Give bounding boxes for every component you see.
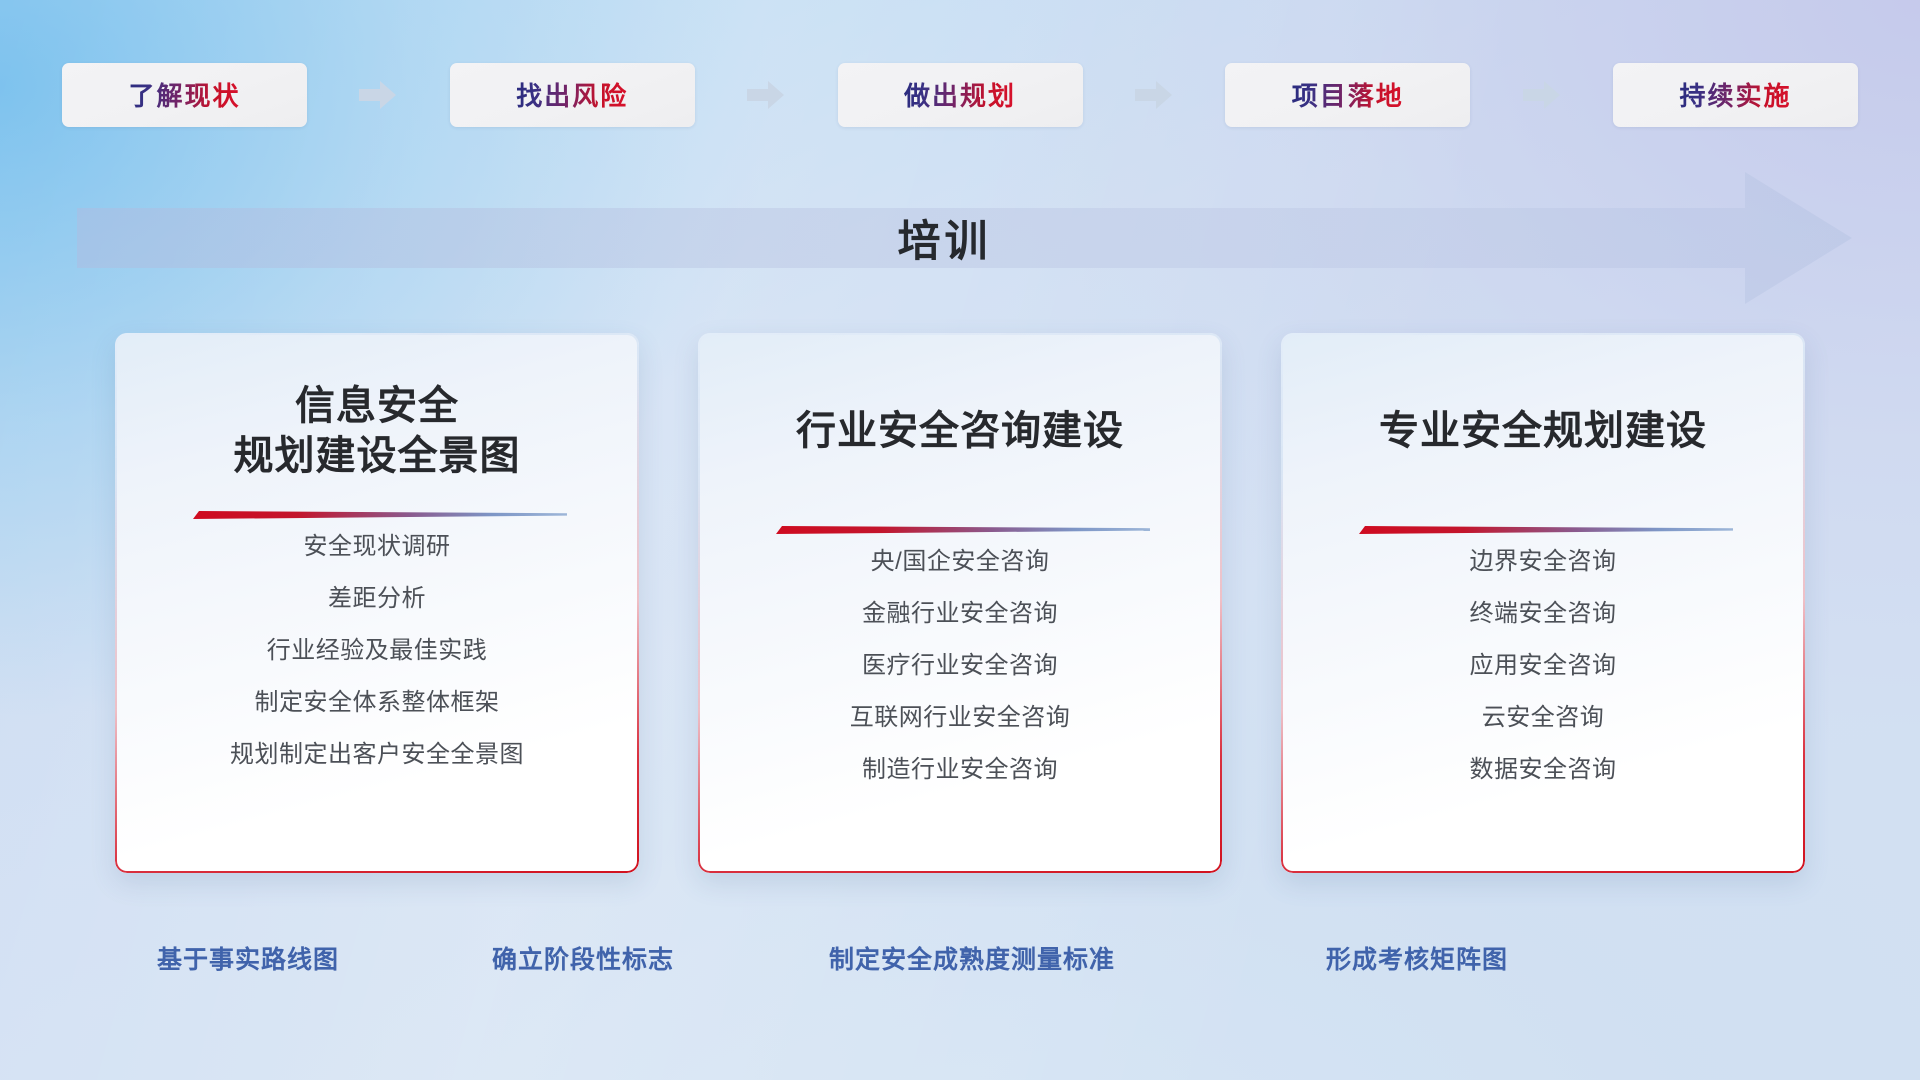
step-arrow-icon-3 xyxy=(1135,80,1173,110)
step-box-4[interactable]: 项目落地 xyxy=(1225,63,1470,127)
caption-1: 基于事实路线图 xyxy=(157,940,339,976)
list-item: 制定安全体系整体框架 xyxy=(145,677,609,729)
card-divider-3 xyxy=(1353,524,1733,536)
card-list-2: 央/国企安全咨询 金融行业安全咨询 医疗行业安全咨询 互联网行业安全咨询 制造行… xyxy=(728,536,1192,796)
list-item: 云安全咨询 xyxy=(1311,692,1775,744)
list-item: 行业经验及最佳实践 xyxy=(145,625,609,677)
process-step-row: 了解现状 找出风险 做出规划 项目落地 持续实施 xyxy=(62,62,1858,127)
card-list-1: 安全现状调研 差距分析 行业经验及最佳实践 制定安全体系整体框架 规划制定出客户… xyxy=(145,521,609,781)
step-box-3[interactable]: 做出规划 xyxy=(838,63,1083,127)
step-box-5[interactable]: 持续实施 xyxy=(1613,63,1858,127)
card-title-2: 行业安全咨询建设 xyxy=(728,406,1192,456)
list-item: 金融行业安全咨询 xyxy=(728,588,1192,640)
step-box-2[interactable]: 找出风险 xyxy=(450,63,695,127)
card-1[interactable]: 信息安全 规划建设全景图 安全现状调研 差距分析 行业经验及最佳实践 制定安全体… xyxy=(115,333,639,873)
list-item: 安全现状调研 xyxy=(145,521,609,573)
step-label-1: 了解现状 xyxy=(128,76,240,113)
step-box-1[interactable]: 了解现状 xyxy=(62,63,307,127)
list-item: 央/国企安全咨询 xyxy=(728,536,1192,588)
card-divider-1 xyxy=(187,509,567,521)
step-arrow-icon-1 xyxy=(359,80,397,110)
card-list-3: 边界安全咨询 终端安全咨询 应用安全咨询 云安全咨询 数据安全咨询 xyxy=(1311,536,1775,796)
step-label-3: 做出规划 xyxy=(904,76,1016,113)
caption-3: 制定安全成熟度测量标准 xyxy=(829,940,1115,976)
training-arrow-band: 培训 xyxy=(77,172,1852,304)
list-item: 规划制定出客户安全全景图 xyxy=(145,729,609,781)
card-title-1: 信息安全 规划建设全景图 xyxy=(145,381,609,481)
bottom-captions: 基于事实路线图 确立阶段性标志 制定安全成熟度测量标准 形成考核矩阵图 xyxy=(0,940,1920,980)
step-label-5: 持续实施 xyxy=(1679,76,1791,113)
band-label: 培训 xyxy=(77,172,1812,304)
list-item: 差距分析 xyxy=(145,573,609,625)
step-arrow-icon-4 xyxy=(1523,80,1561,110)
list-item: 应用安全咨询 xyxy=(1311,640,1775,692)
step-arrow-icon-2 xyxy=(747,80,785,110)
list-item: 边界安全咨询 xyxy=(1311,536,1775,588)
list-item: 终端安全咨询 xyxy=(1311,588,1775,640)
card-2[interactable]: 行业安全咨询建设 央/国企安全咨询 金融行业安全咨询 医疗行业安全咨询 互联网行… xyxy=(698,333,1222,873)
list-item: 数据安全咨询 xyxy=(1311,744,1775,796)
step-label-2: 找出风险 xyxy=(516,76,628,113)
card-title-3: 专业安全规划建设 xyxy=(1311,406,1775,456)
caption-4: 形成考核矩阵图 xyxy=(1326,940,1508,976)
card-divider-2 xyxy=(770,524,1150,536)
list-item: 互联网行业安全咨询 xyxy=(728,692,1192,744)
step-label-4: 项目落地 xyxy=(1292,76,1404,113)
cards-row: 信息安全 规划建设全景图 安全现状调研 差距分析 行业经验及最佳实践 制定安全体… xyxy=(115,333,1805,873)
caption-2: 确立阶段性标志 xyxy=(492,940,674,976)
list-item: 制造行业安全咨询 xyxy=(728,744,1192,796)
list-item: 医疗行业安全咨询 xyxy=(728,640,1192,692)
card-3[interactable]: 专业安全规划建设 边界安全咨询 终端安全咨询 应用安全咨询 云安全咨询 数据安全… xyxy=(1281,333,1805,873)
